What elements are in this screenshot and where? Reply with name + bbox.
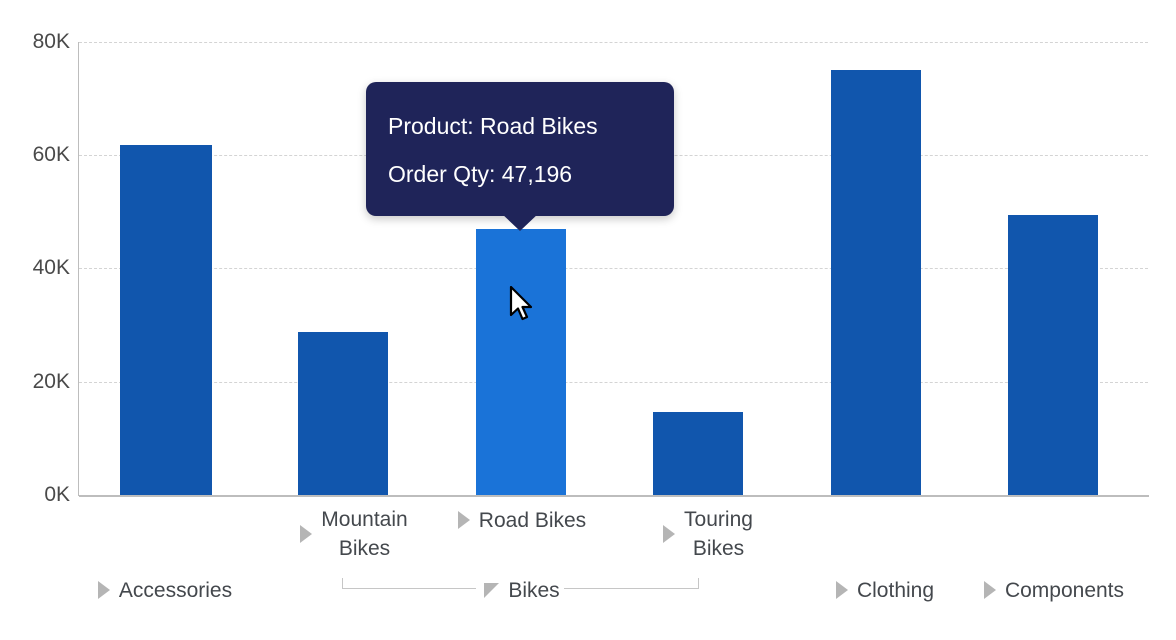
expand-triangle-icon[interactable] bbox=[458, 511, 470, 529]
chart-canvas: 80K 60K 40K 20K 0K Product: Road Bikes O… bbox=[0, 0, 1176, 640]
bracket-segment-right bbox=[564, 588, 698, 589]
axis-item-label: Road Bikes bbox=[479, 506, 586, 535]
axis-group-label: Components bbox=[1005, 576, 1124, 605]
axis-group-clothing[interactable]: Clothing bbox=[810, 574, 960, 606]
axis-item-label: Mountain Bikes bbox=[321, 505, 407, 563]
axis-item-label: Touring Bikes bbox=[684, 505, 753, 563]
collapse-triangle-icon[interactable] bbox=[484, 583, 499, 598]
axis-group-label: Accessories bbox=[119, 576, 232, 605]
expand-triangle-icon[interactable] bbox=[98, 581, 110, 599]
expand-triangle-icon[interactable] bbox=[984, 581, 996, 599]
expand-triangle-icon[interactable] bbox=[663, 525, 675, 543]
expand-triangle-icon[interactable] bbox=[836, 581, 848, 599]
axis-item-mountain-bikes[interactable]: Mountain Bikes bbox=[268, 505, 440, 563]
axis-group-label: Bikes bbox=[508, 576, 559, 605]
bracket-cap-right bbox=[698, 578, 699, 589]
axis-item-road-bikes[interactable]: Road Bikes bbox=[432, 505, 612, 535]
axis-item-touring-bikes[interactable]: Touring Bikes bbox=[628, 505, 788, 563]
expand-triangle-icon[interactable] bbox=[300, 525, 312, 543]
axis-group-bikes[interactable]: Bikes bbox=[474, 574, 570, 606]
bracket-segment-left bbox=[342, 588, 476, 589]
category-axis: Mountain Bikes Road Bikes Touring Bikes … bbox=[0, 0, 1176, 640]
axis-group-components[interactable]: Components bbox=[956, 574, 1152, 606]
axis-group-label: Clothing bbox=[857, 576, 934, 605]
axis-group-accessories[interactable]: Accessories bbox=[70, 574, 260, 606]
